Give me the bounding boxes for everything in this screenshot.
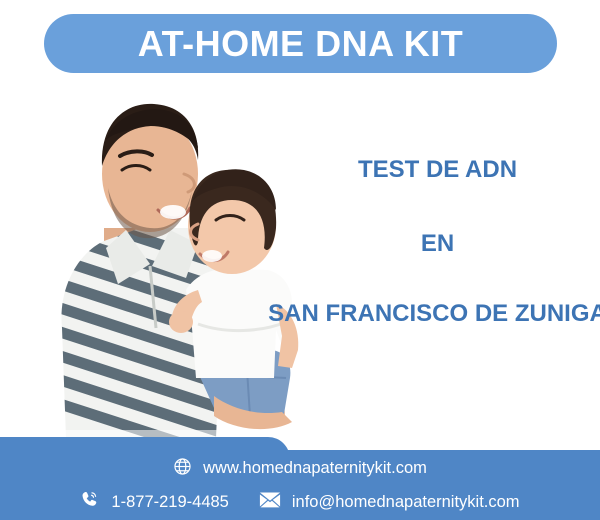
child-teeth bbox=[202, 250, 222, 262]
header-pill-banner: AT-HOME DNA KIT bbox=[44, 14, 557, 73]
footer-bar: www.homednapaternitykit.com 1-877-219-44… bbox=[0, 437, 600, 520]
headline-block: TEST DE ADN EN SAN FRANCISCO DE ZUNIGA bbox=[240, 158, 600, 326]
phone-icon bbox=[80, 490, 100, 515]
child-hand bbox=[169, 311, 193, 333]
footer-contact-rows: www.homednapaternitykit.com 1-877-219-44… bbox=[0, 437, 600, 520]
headline-line-3: SAN FRANCISCO DE ZUNIGA bbox=[240, 302, 600, 326]
phone-contact[interactable]: 1-877-219-4485 bbox=[80, 490, 228, 515]
footer-row-website: www.homednapaternitykit.com bbox=[173, 457, 427, 481]
man-teeth bbox=[160, 205, 186, 219]
page-title: AT-HOME DNA KIT bbox=[138, 26, 463, 62]
envelope-icon bbox=[259, 491, 281, 513]
headline-line-1: TEST DE ADN bbox=[240, 158, 600, 182]
phone-text: 1-877-219-4485 bbox=[111, 494, 228, 511]
email-text: info@homednapaternitykit.com bbox=[292, 494, 520, 511]
footer-row-phone-email: 1-877-219-4485 info@homednapaternitykit.… bbox=[80, 490, 519, 515]
headline-line-2: EN bbox=[240, 232, 600, 256]
poster-canvas: AT-HOME DNA KIT bbox=[0, 0, 600, 520]
email-contact[interactable]: info@homednapaternitykit.com bbox=[259, 491, 520, 513]
website-contact[interactable]: www.homednapaternitykit.com bbox=[173, 457, 427, 481]
globe-icon bbox=[173, 457, 192, 481]
website-text: www.homednapaternitykit.com bbox=[203, 460, 427, 477]
